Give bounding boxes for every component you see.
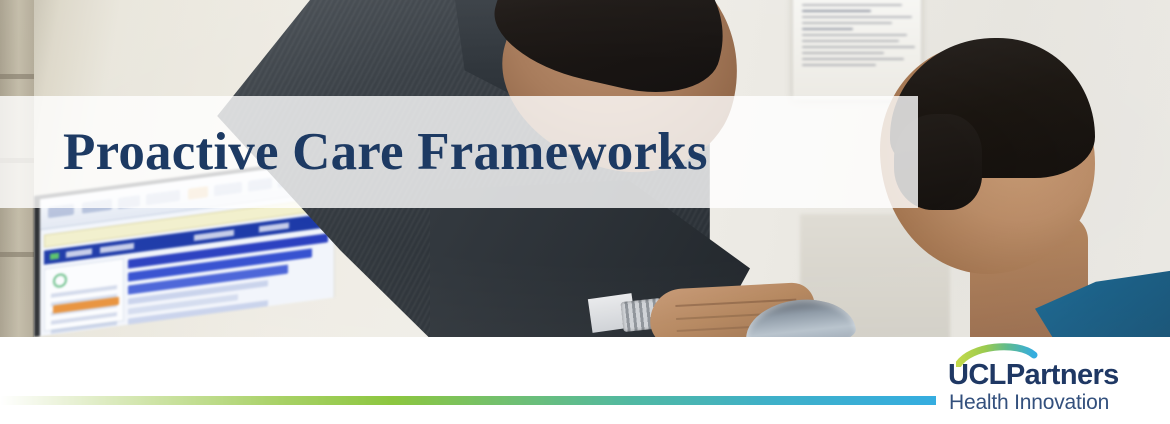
logo-partners-text: Partners [1006, 359, 1119, 391]
shelf-line [0, 252, 34, 257]
logo-wordmark: UCLPartners [948, 361, 1119, 390]
title-band: Proactive Care Frameworks [0, 96, 918, 208]
software-sidebar [44, 258, 124, 332]
footer: UCLPartners Health Innovation [0, 337, 1170, 424]
gauge-icon [53, 273, 67, 289]
page-banner: Proactive Care Frameworks UCLPartners He… [0, 0, 1170, 424]
logo-ucl-text: UCL [948, 359, 1006, 391]
ucl-partners-logo[interactable]: UCLPartners Health Innovation [948, 339, 1148, 423]
shelf-line [0, 74, 34, 79]
page-title: Proactive Care Frameworks [63, 126, 708, 179]
brand-gradient-bar [0, 396, 936, 405]
logo-tagline: Health Innovation [949, 392, 1109, 413]
